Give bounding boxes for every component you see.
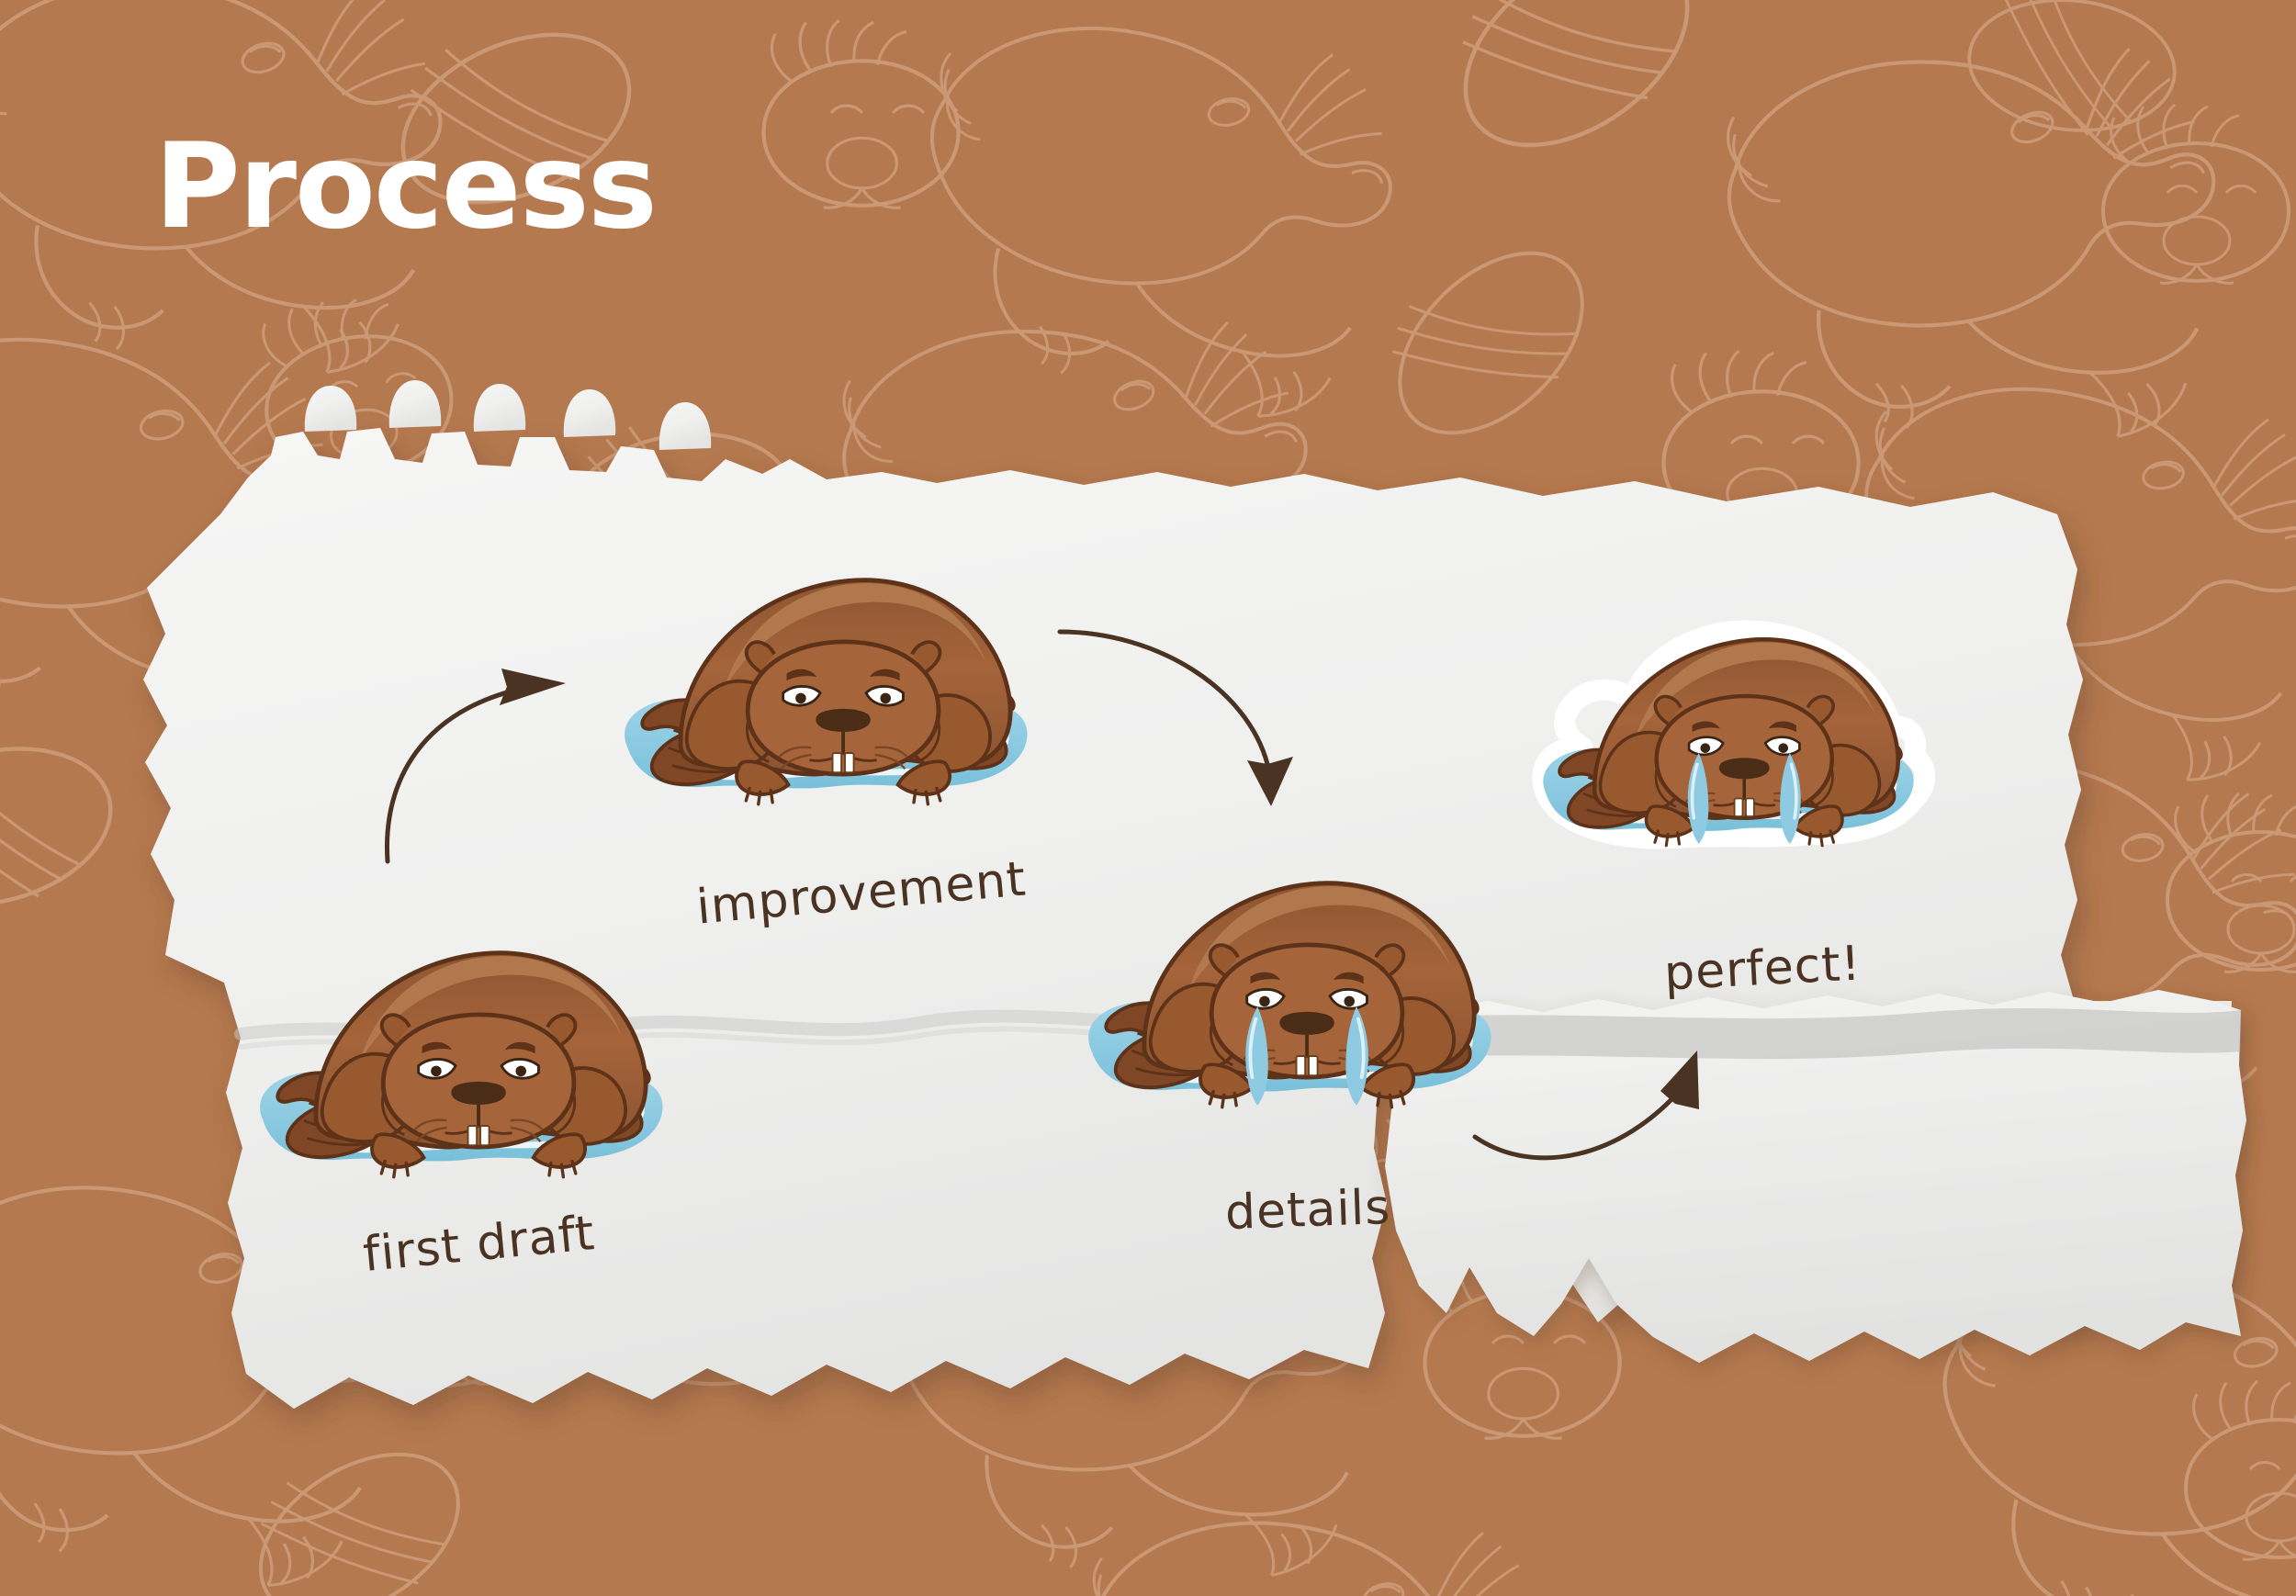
step-icon-first-draft: [228, 905, 687, 1208]
step-label-perfect: perfect!: [1663, 936, 1863, 1001]
step-icon-details: [1056, 836, 1515, 1139]
arrow-improvement-to-details: [1047, 615, 1322, 845]
curved-arrow-up-right-icon: [387, 669, 566, 861]
curved-arrow-up-right-icon: [1475, 1051, 1699, 1158]
curved-arrow-down-right-icon: [1060, 632, 1293, 806]
crying-beaver-icon: [1543, 631, 1925, 846]
step-icon-improvement: [592, 533, 1052, 836]
slide-canvas: Process: [0, 0, 2296, 1596]
arrow-first-draft-to-improvement: [367, 634, 597, 863]
arrow-details-to-perfect: [1469, 1038, 1745, 1221]
page-title: Process: [154, 129, 656, 246]
crying-beaver-icon: [1088, 883, 1491, 1107]
sad-beaver-icon: [625, 580, 1027, 804]
sad-beaver-icon: [260, 953, 662, 1177]
step-label-details: details: [1224, 1180, 1391, 1241]
step-icon-perfect: [1514, 595, 1936, 875]
